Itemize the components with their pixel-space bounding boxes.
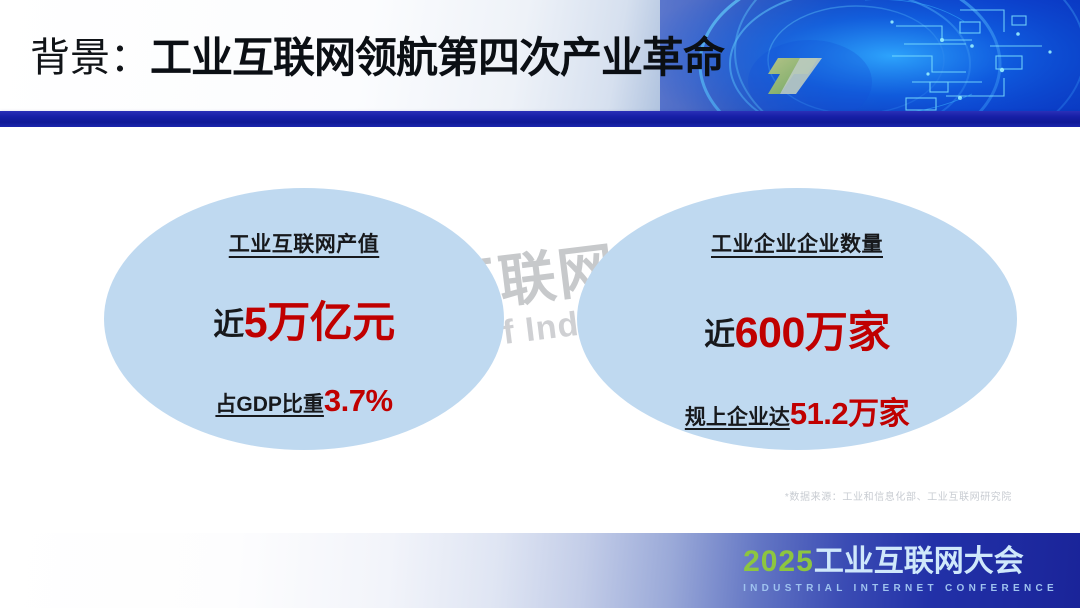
stat-heading-right: 工业企业企业数量 <box>577 228 1017 258</box>
stat-card-output-value: 工业互联网产值 近5万亿元 占GDP比重3.7% <box>104 188 504 450</box>
stat-sub-lead-left: 占GDP比重 <box>215 393 324 416</box>
page-title: 背景： 工业互联网领航第四次产业革命 <box>30 18 724 90</box>
stat-main-left: 近5万亿元 <box>104 288 504 350</box>
stat-heading-left: 工业互联网产值 <box>104 228 504 258</box>
slide: 背景： 工业互联网领航第四次产业革命 工业互联网产业联盟 Alliance of… <box>0 0 1080 608</box>
conference-logo: 2025工业互联网大会 INDUSTRIAL INTERNET CONFEREN… <box>743 547 1058 594</box>
stat-sub-lead-right: 规上企业达 <box>685 406 790 429</box>
header-divider-rule <box>0 111 1080 127</box>
stat-main-value-right: 600万家 <box>735 309 890 357</box>
stat-main-value-left: 5万亿元 <box>244 299 395 347</box>
stat-main-lead-right: 近 <box>704 317 735 352</box>
slide-header: 背景： 工业互联网领航第四次产业革命 <box>0 0 1080 112</box>
slide-body: 工业互联网产业联盟 Alliance of Industrial Interne… <box>0 127 1080 533</box>
stat-sub-value-right: 51.2万家 <box>790 396 909 431</box>
conference-logo-name: 工业互联网大会 <box>814 545 1024 578</box>
conference-logo-year: 2025 <box>743 545 814 578</box>
stat-sub-value-left: 3.7% <box>324 383 393 418</box>
brand-t-mark <box>768 58 822 94</box>
stat-main-lead-left: 近 <box>213 307 244 342</box>
stat-card-enterprise-count: 工业企业企业数量 近600万家 规上企业达51.2万家 <box>577 188 1017 450</box>
conference-logo-subtitle: INDUSTRIAL INTERNET CONFERENCE <box>743 584 1058 594</box>
stat-main-right: 近600万家 <box>577 298 1017 360</box>
slide-footer: 2025工业互联网大会 INDUSTRIAL INTERNET CONFEREN… <box>0 533 1080 608</box>
stat-sub-right: 规上企业达51.2万家 <box>577 388 1017 433</box>
page-title-prefix: 背景： <box>30 25 150 83</box>
data-source-note: *数据来源：工业和信息化部、工业互联网研究院 <box>785 488 1012 503</box>
conference-logo-main: 2025工业互联网大会 <box>743 547 1058 577</box>
page-title-main: 工业互联网领航第四次产业革命 <box>150 24 724 85</box>
stat-sub-left: 占GDP比重3.7% <box>104 383 504 419</box>
